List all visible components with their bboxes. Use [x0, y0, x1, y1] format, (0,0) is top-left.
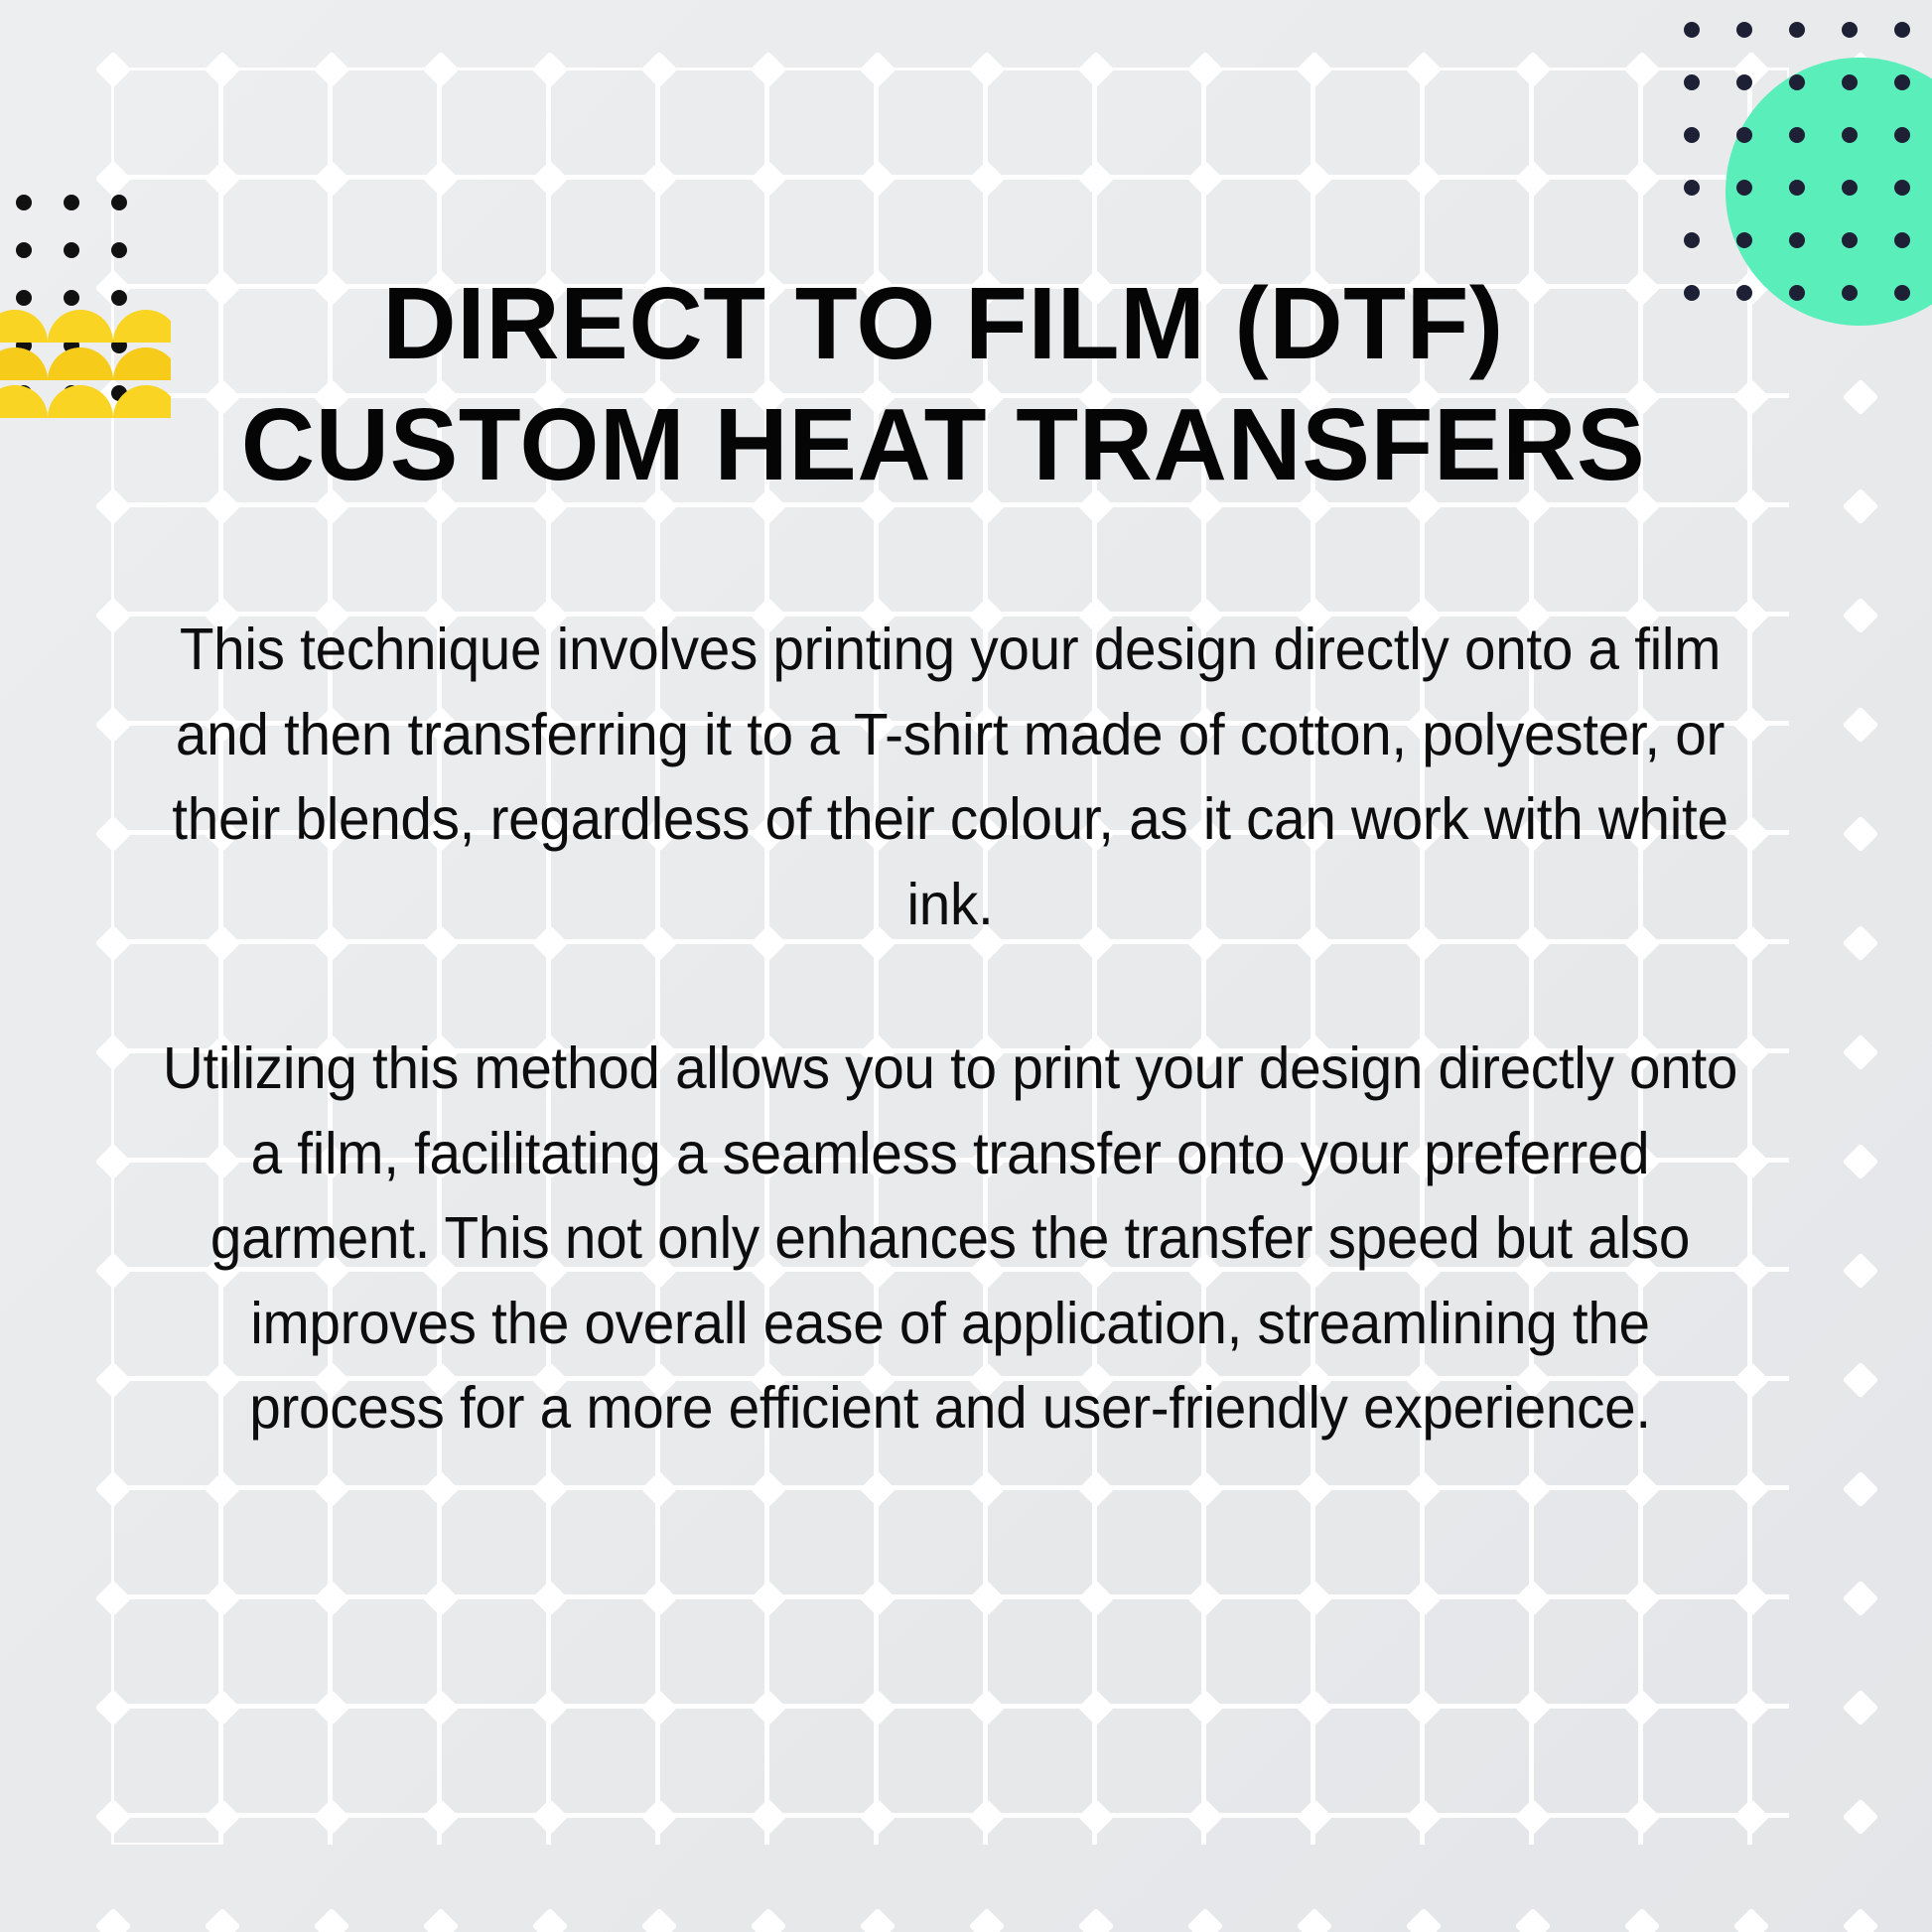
poster-canvas: DIRECT TO FILM (DTF) CUSTOM HEAT TRANSFE… [0, 0, 1932, 1932]
paragraph-1: This technique involves printing your de… [159, 608, 1741, 947]
title-line-1: DIRECT TO FILM (DTF) [169, 263, 1718, 384]
body-copy: This technique involves printing your de… [111, 608, 1789, 1451]
paragraph-2: Utilizing this method allows you to prin… [159, 1027, 1741, 1451]
title-line-2: CUSTOM HEAT TRANSFERS [169, 384, 1718, 505]
page-title: DIRECT TO FILM (DTF) CUSTOM HEAT TRANSFE… [169, 263, 1718, 504]
poster-content: DIRECT TO FILM (DTF) CUSTOM HEAT TRANSFE… [0, 0, 1932, 1932]
